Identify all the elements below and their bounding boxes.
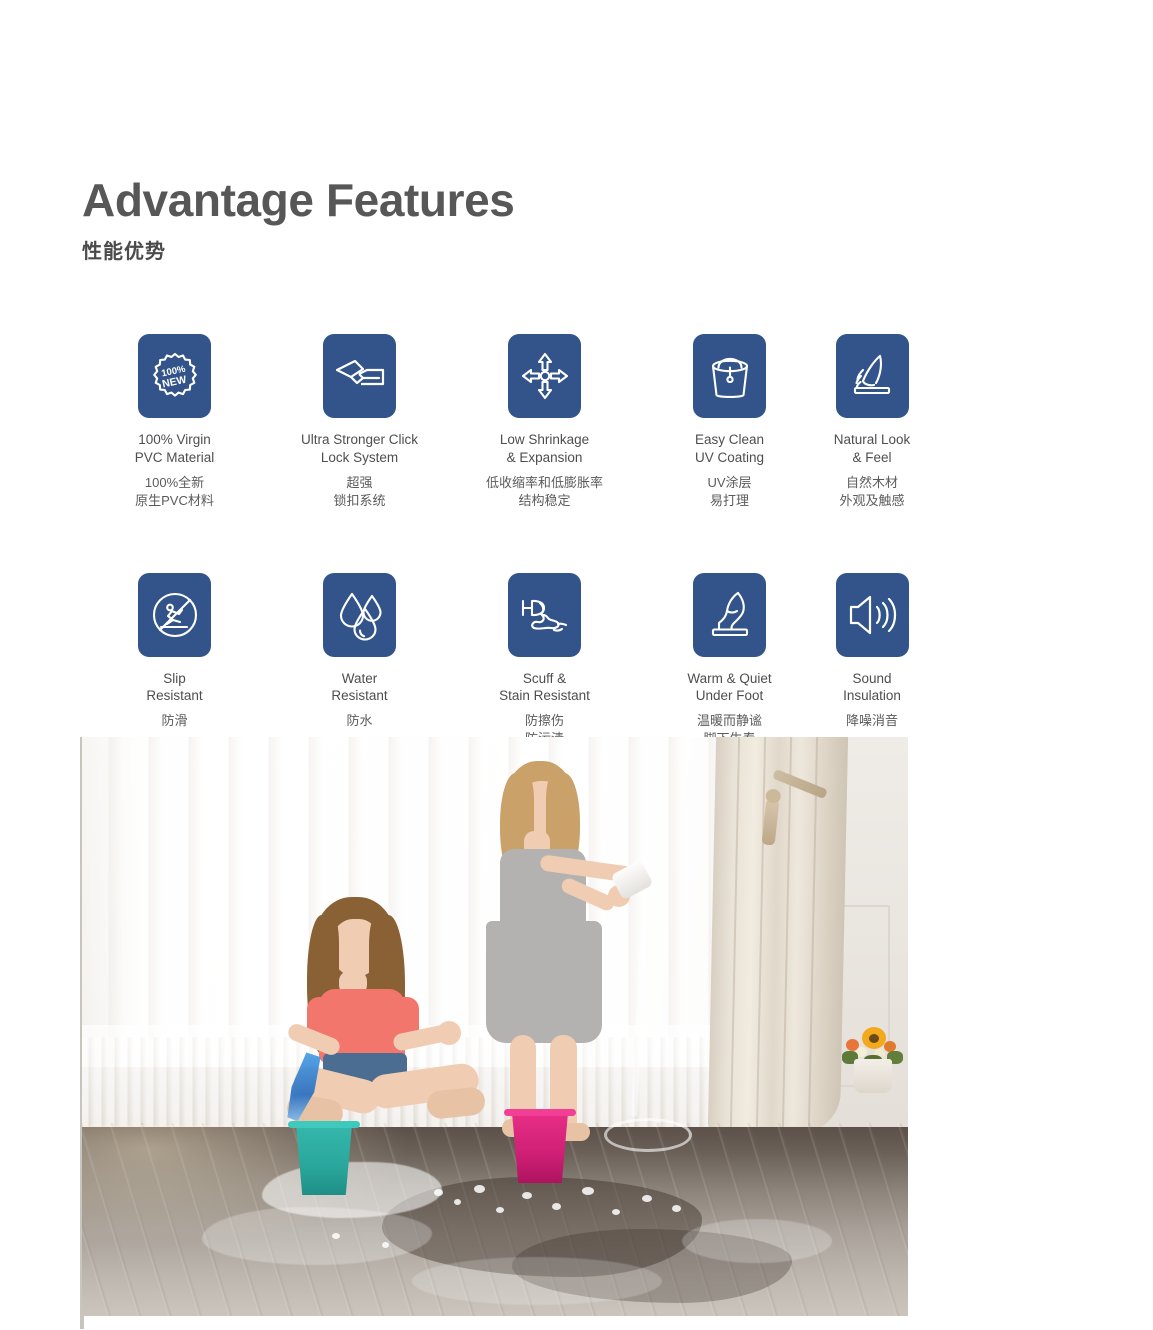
feature-labels: WaterResistant 防水 — [331, 670, 387, 731]
feature-labels: Natural Look& Feel 自然木材外观及触感 — [834, 431, 911, 510]
photo-water-spill — [412, 1257, 662, 1305]
feature-tile — [693, 334, 766, 418]
feature-label-en-line2: UV Coating — [695, 450, 764, 465]
page-title-en: Advantage Features — [82, 176, 515, 224]
feature-labels: 100% VirginPVC Material 100%全新原生PVC材料 — [135, 431, 215, 510]
feature-label-cn-line1: 防水 — [346, 713, 372, 728]
feature-label-en-line1: Scuff & — [523, 671, 566, 686]
page-heading: Advantage Features 性能优势 — [82, 176, 515, 264]
page-title-cn: 性能优势 — [82, 235, 515, 264]
feature-item-sound-insulation: SoundInsulation 降噪消音 — [822, 573, 922, 749]
feature-labels: SlipResistant 防滑 — [146, 670, 202, 731]
feature-label-en-line1: Natural Look — [834, 432, 911, 447]
feature-label-en-line2: & Expansion — [507, 450, 583, 465]
feature-labels: Ultra Stronger ClickLock System 超强锁扣系统 — [301, 431, 418, 510]
feature-label-cn-line2: 原生PVC材料 — [135, 493, 214, 508]
photo-teal-bucket-rim — [288, 1121, 360, 1128]
feature-tile — [508, 334, 581, 418]
feature-item-scuff-stain-resistant: Scuff &Stain Resistant 防擦伤防污渍 — [452, 573, 637, 749]
feature-label-en-line1: Sound — [852, 671, 891, 686]
feature-label-en-line2: Insulation — [843, 688, 901, 703]
click-lock-plank-icon — [333, 355, 387, 397]
photo-canvas — [82, 737, 908, 1316]
badge-100-percent-new-icon: 100% NEW — [149, 350, 201, 402]
feature-tile — [323, 334, 396, 418]
photo-splash-ring — [604, 1118, 692, 1152]
feature-labels: Easy CleanUV Coating UV涂层易打理 — [695, 431, 764, 510]
feature-tile: 100% NEW — [138, 334, 211, 418]
feature-item-low-shrinkage: Low Shrinkage& Expansion 低收缩率和低膨胀率结构稳定 — [452, 334, 637, 510]
feature-label-en-line1: Warm & Quiet — [687, 671, 771, 686]
feature-label-en-line1: Slip — [163, 671, 186, 686]
photo-teal-bucket — [292, 1123, 356, 1195]
feature-label-en-line2: Resistant — [331, 688, 387, 703]
feature-tile — [323, 573, 396, 657]
feature-item-click-lock: Ultra Stronger ClickLock System 超强锁扣系统 — [267, 334, 452, 510]
photo-pink-bucket-rim — [504, 1109, 576, 1116]
no-slip-icon — [149, 589, 201, 641]
feature-tile — [836, 573, 909, 657]
feature-labels: Low Shrinkage& Expansion 低收缩率和低膨胀率结构稳定 — [486, 431, 603, 510]
four-way-arrows-icon — [519, 350, 571, 402]
feature-label-cn-line1: 低收缩率和低膨胀率 — [486, 475, 603, 490]
feature-label-cn-line1: 防擦伤 — [525, 713, 564, 728]
photo-child-sitting — [277, 897, 507, 1147]
feature-label-cn-line1: 温暖而静谧 — [697, 713, 762, 728]
bucket-icon — [706, 350, 754, 402]
feature-item-virgin-pvc: 100% NEW 100% VirginPVC Material 100%全新原… — [82, 334, 267, 510]
feature-row-1: 100% NEW 100% VirginPVC Material 100%全新原… — [82, 334, 932, 510]
bare-foot-on-plank-icon — [706, 590, 754, 640]
feature-label-en-line1: Easy Clean — [695, 432, 764, 447]
feature-label-cn-line1: 防滑 — [161, 713, 187, 728]
feature-label-en-line1: Ultra Stronger Click — [301, 432, 418, 447]
feature-labels: SoundInsulation 降噪消音 — [843, 670, 901, 731]
feature-item-easy-clean: Easy CleanUV Coating UV涂层易打理 — [637, 334, 822, 510]
water-drops-icon — [336, 589, 384, 641]
feature-label-cn-line1: 超强 — [346, 475, 372, 490]
feature-label-cn-line2: 易打理 — [710, 493, 749, 508]
page-root: Advantage Features 性能优势 100% NEW 100% Vi… — [0, 0, 1153, 1330]
feature-label-en-line2: PVC Material — [135, 450, 215, 465]
hand-touching-plank-icon — [847, 352, 897, 400]
feature-item-water-resistant: WaterResistant 防水 — [267, 573, 452, 749]
feature-label-en-line2: Stain Resistant — [499, 688, 590, 703]
feature-label-en-line2: & Feel — [852, 450, 891, 465]
feature-label-en-line1: Low Shrinkage — [500, 432, 589, 447]
feature-row-2: SlipResistant 防滑 — [82, 573, 932, 749]
feature-label-cn-line1: 自然木材 — [846, 475, 898, 490]
feature-tile — [693, 573, 766, 657]
feature-label-en-line2: Under Foot — [696, 688, 764, 703]
feature-label-en-line1: Water — [342, 671, 378, 686]
feature-grid: 100% NEW 100% VirginPVC Material 100%全新原… — [82, 334, 932, 748]
feature-tile — [836, 334, 909, 418]
feature-label-cn-line1: UV涂层 — [707, 475, 751, 490]
photo-pink-bucket — [508, 1111, 572, 1183]
feature-label-cn-line1: 降噪消音 — [846, 713, 898, 728]
feature-tile — [508, 573, 581, 657]
lifestyle-photo — [82, 737, 908, 1316]
feature-label-en-line2: Lock System — [321, 450, 398, 465]
feature-label-cn-line1: 100%全新 — [145, 475, 204, 490]
feature-item-warm-quiet-underfoot: Warm & QuietUnder Foot 温暖而静谧脚下生春 — [637, 573, 822, 749]
spilled-wine-glass-icon — [518, 593, 572, 637]
photo-water-spill — [682, 1219, 832, 1263]
feature-item-natural-look: Natural Look& Feel 自然木材外观及触感 — [822, 334, 922, 510]
feature-label-cn-line2: 锁扣系统 — [333, 493, 385, 508]
feature-tile — [138, 573, 211, 657]
feature-label-cn-line2: 结构稳定 — [518, 493, 570, 508]
speaker-sound-waves-icon — [846, 593, 898, 637]
feature-item-slip-resistant: SlipResistant 防滑 — [82, 573, 267, 749]
feature-label-en-line2: Resistant — [146, 688, 202, 703]
photo-flower-pot — [854, 1059, 892, 1093]
feature-label-cn-line2: 外观及触感 — [839, 493, 904, 508]
feature-label-en-line1: 100% Virgin — [138, 432, 211, 447]
